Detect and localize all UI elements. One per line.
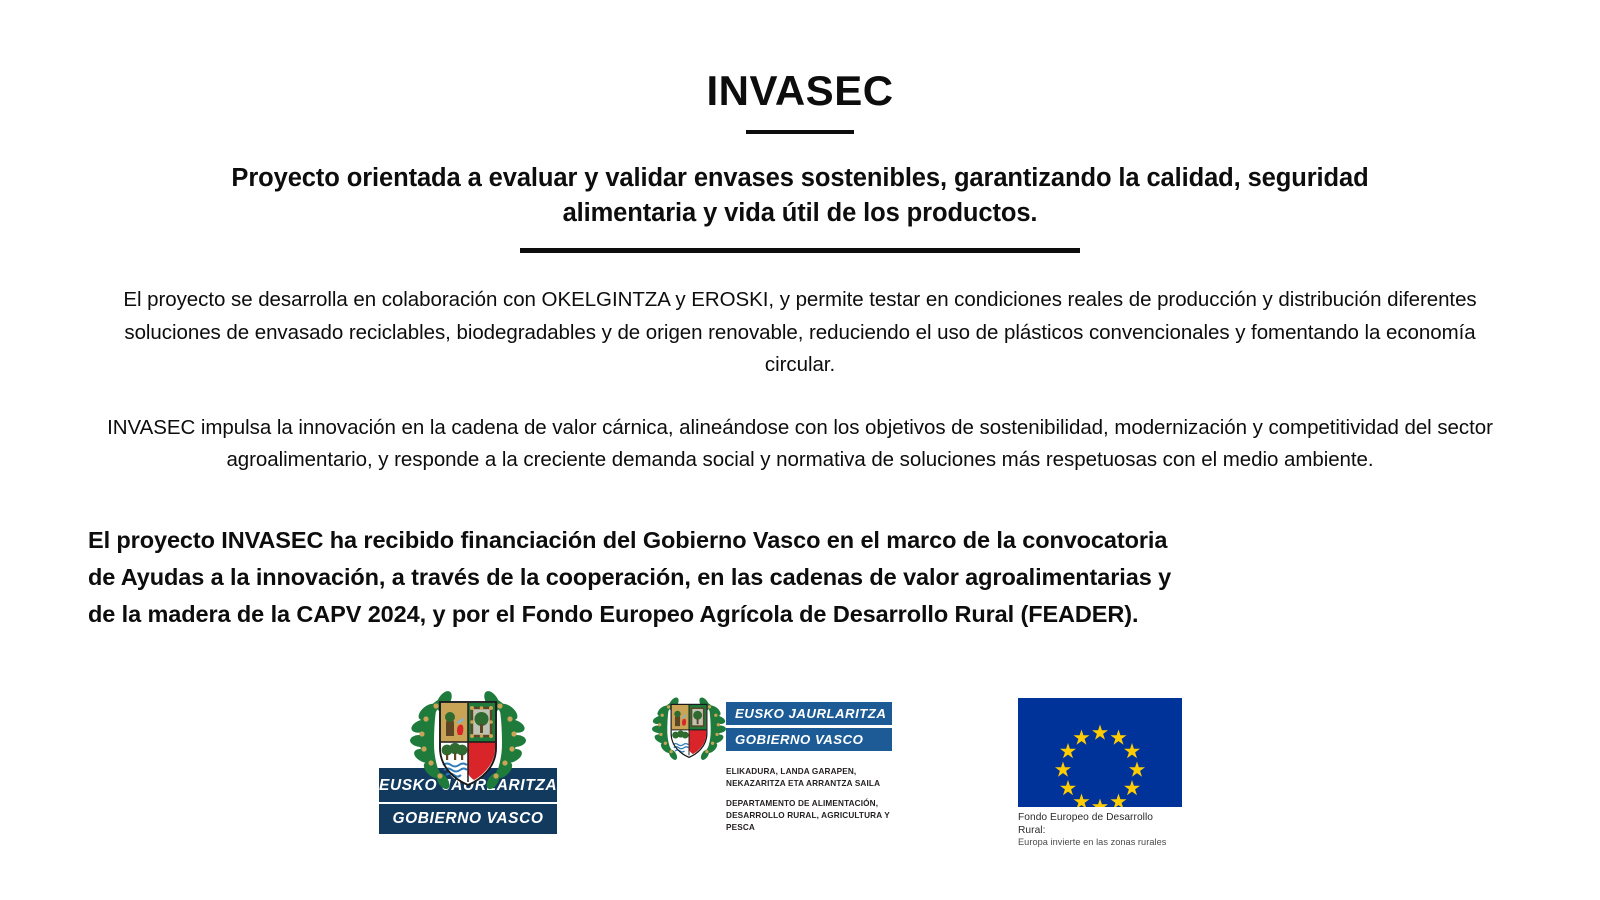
basque-coat-of-arms-small-icon — [652, 694, 726, 762]
slide-root: INVASEC Proyecto orientada a evaluar y v… — [0, 0, 1600, 900]
basque-government-logo: EUSKO JAURLARITZA GOBIERNO VASCO — [379, 686, 557, 832]
funding-statement: El proyecto INVASEC ha recibido financia… — [88, 522, 1198, 633]
eu-stars-icon — [1018, 698, 1182, 807]
title-block: INVASEC — [0, 0, 1600, 134]
department-name-basque: ELIKADURA, LANDA GARAPEN, NEKAZARITZA ET… — [726, 766, 896, 789]
eu-flag-icon — [1018, 698, 1182, 807]
wordmark-line-basque: EUSKO JAURLARITZA — [726, 702, 892, 725]
subtitle-divider — [520, 248, 1080, 253]
eu-caption-line-1: Fondo Europeo de Desarrollo Rural: — [1018, 811, 1182, 837]
department-name-spanish: DEPARTAMENTO DE ALIMENTACIÓN, DESARROLLO… — [726, 798, 896, 833]
eu-caption: Fondo Europeo de Desarrollo Rural: Europ… — [1018, 811, 1182, 849]
title-divider — [746, 130, 854, 134]
department-text: ELIKADURA, LANDA GARAPEN, NEKAZARITZA ET… — [726, 766, 896, 833]
eu-caption-line-2: Europa invierte en las zonas rurales — [1018, 837, 1182, 849]
body-paragraph-1: El proyecto se desarrolla en colaboració… — [90, 284, 1510, 382]
page-subtitle: Proyecto orientada a evaluar y validar e… — [175, 161, 1425, 230]
basque-department-logo: EUSKO JAURLARITZA GOBIERNO VASCO ELIKADU… — [652, 694, 892, 842]
european-union-logo: Fondo Europeo de Desarrollo Rural: Europ… — [1018, 698, 1182, 838]
basque-government-wordmark: EUSKO JAURLARITZA GOBIERNO VASCO — [726, 702, 892, 752]
page-title: INVASEC — [0, 68, 1600, 114]
body-paragraph-2: INVASEC impulsa la innovación en la cade… — [90, 412, 1510, 477]
banner-line-spanish: GOBIERNO VASCO — [379, 802, 557, 834]
basque-coat-of-arms-icon — [410, 686, 526, 792]
wordmark-line-spanish: GOBIERNO VASCO — [726, 728, 892, 751]
logo-row: EUSKO JAURLARITZA GOBIERNO VASCO — [0, 686, 1600, 856]
